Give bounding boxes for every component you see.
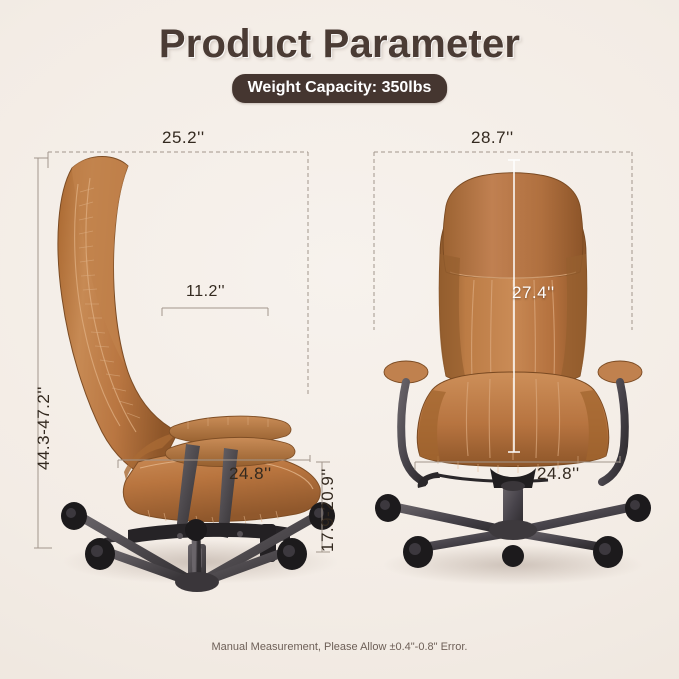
product-parameter-page: Product Parameter Weight Capacity: 350lb…: [0, 0, 679, 679]
measurement-disclaimer: Manual Measurement, Please Allow ±0.4"-0…: [0, 641, 679, 653]
dimension-front-overall-width: 28.7'': [471, 128, 514, 148]
front-view-dimension-guides: [0, 0, 679, 679]
dimension-front-backrest-height: 27.4'': [512, 283, 555, 303]
dimension-front-base-diameter: 24.8'': [537, 464, 580, 484]
